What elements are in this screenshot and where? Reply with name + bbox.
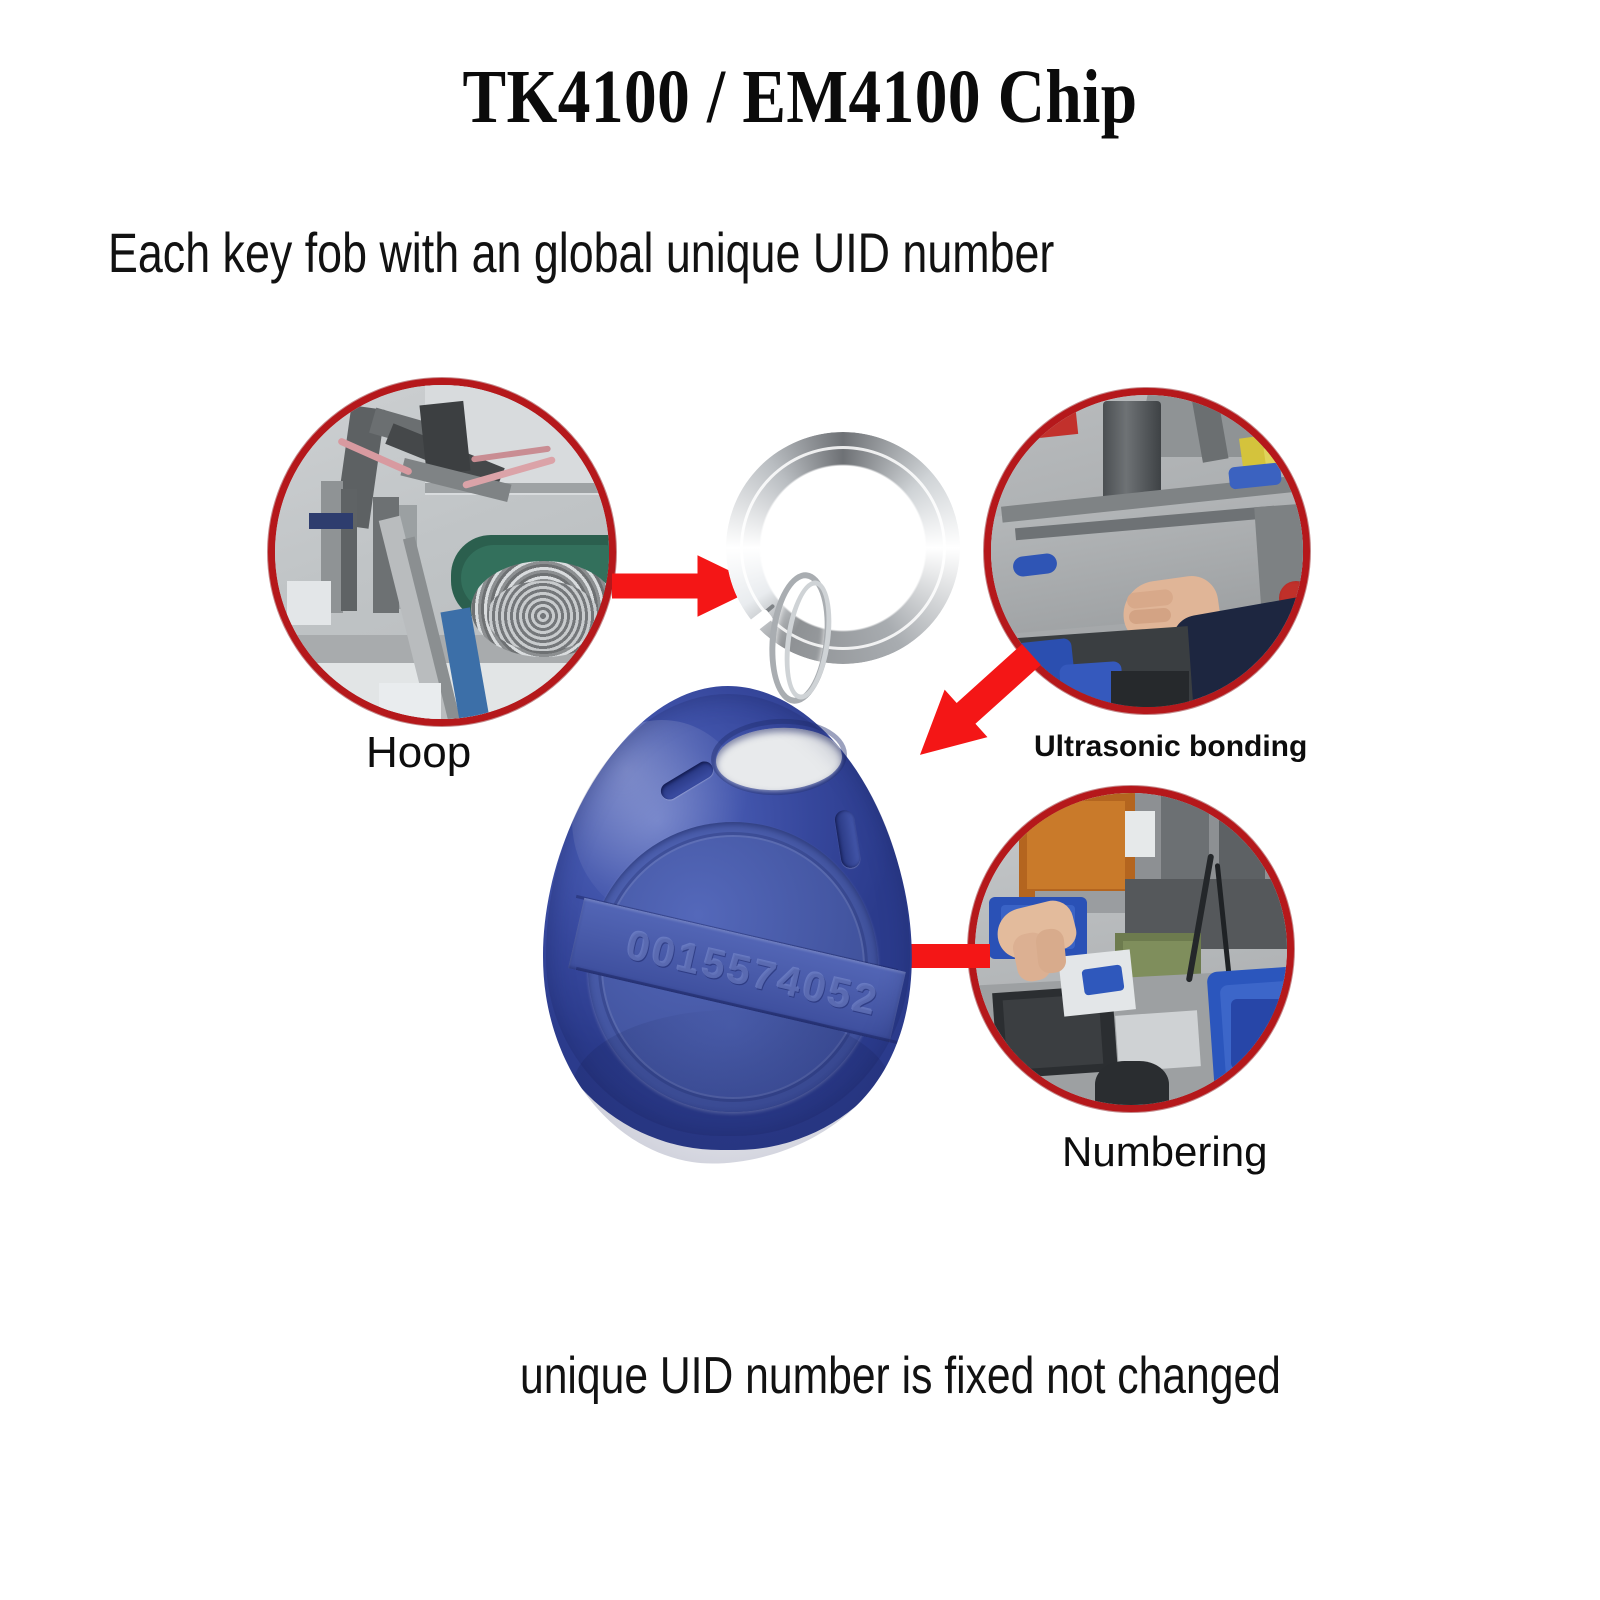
split-key-ring <box>726 432 960 664</box>
circle-label-hoop: Hoop <box>366 728 471 778</box>
circle-label-ultrasonic-bonding: Ultrasonic bonding <box>1034 730 1307 764</box>
fob-slot-right <box>834 809 862 869</box>
page-title: TK4100 / EM4100 Chip <box>112 58 1488 138</box>
infographic-canvas: TK4100 / EM4100 Chip Each key fob with a… <box>0 0 1600 1600</box>
circle-label-numbering: Numbering <box>1062 1128 1267 1176</box>
photo-circle-numbering <box>968 786 1294 1112</box>
fob-slot-left <box>658 758 716 802</box>
numbering-photo <box>975 793 1287 1105</box>
page-subtitle: Each key fob with an global unique UID n… <box>108 222 1054 284</box>
footer-caption: unique UID number is fixed not changed <box>520 1348 1281 1405</box>
fob-face: 0015574052 <box>588 822 878 1112</box>
rfid-key-fob: 0015574052 <box>520 660 940 1160</box>
